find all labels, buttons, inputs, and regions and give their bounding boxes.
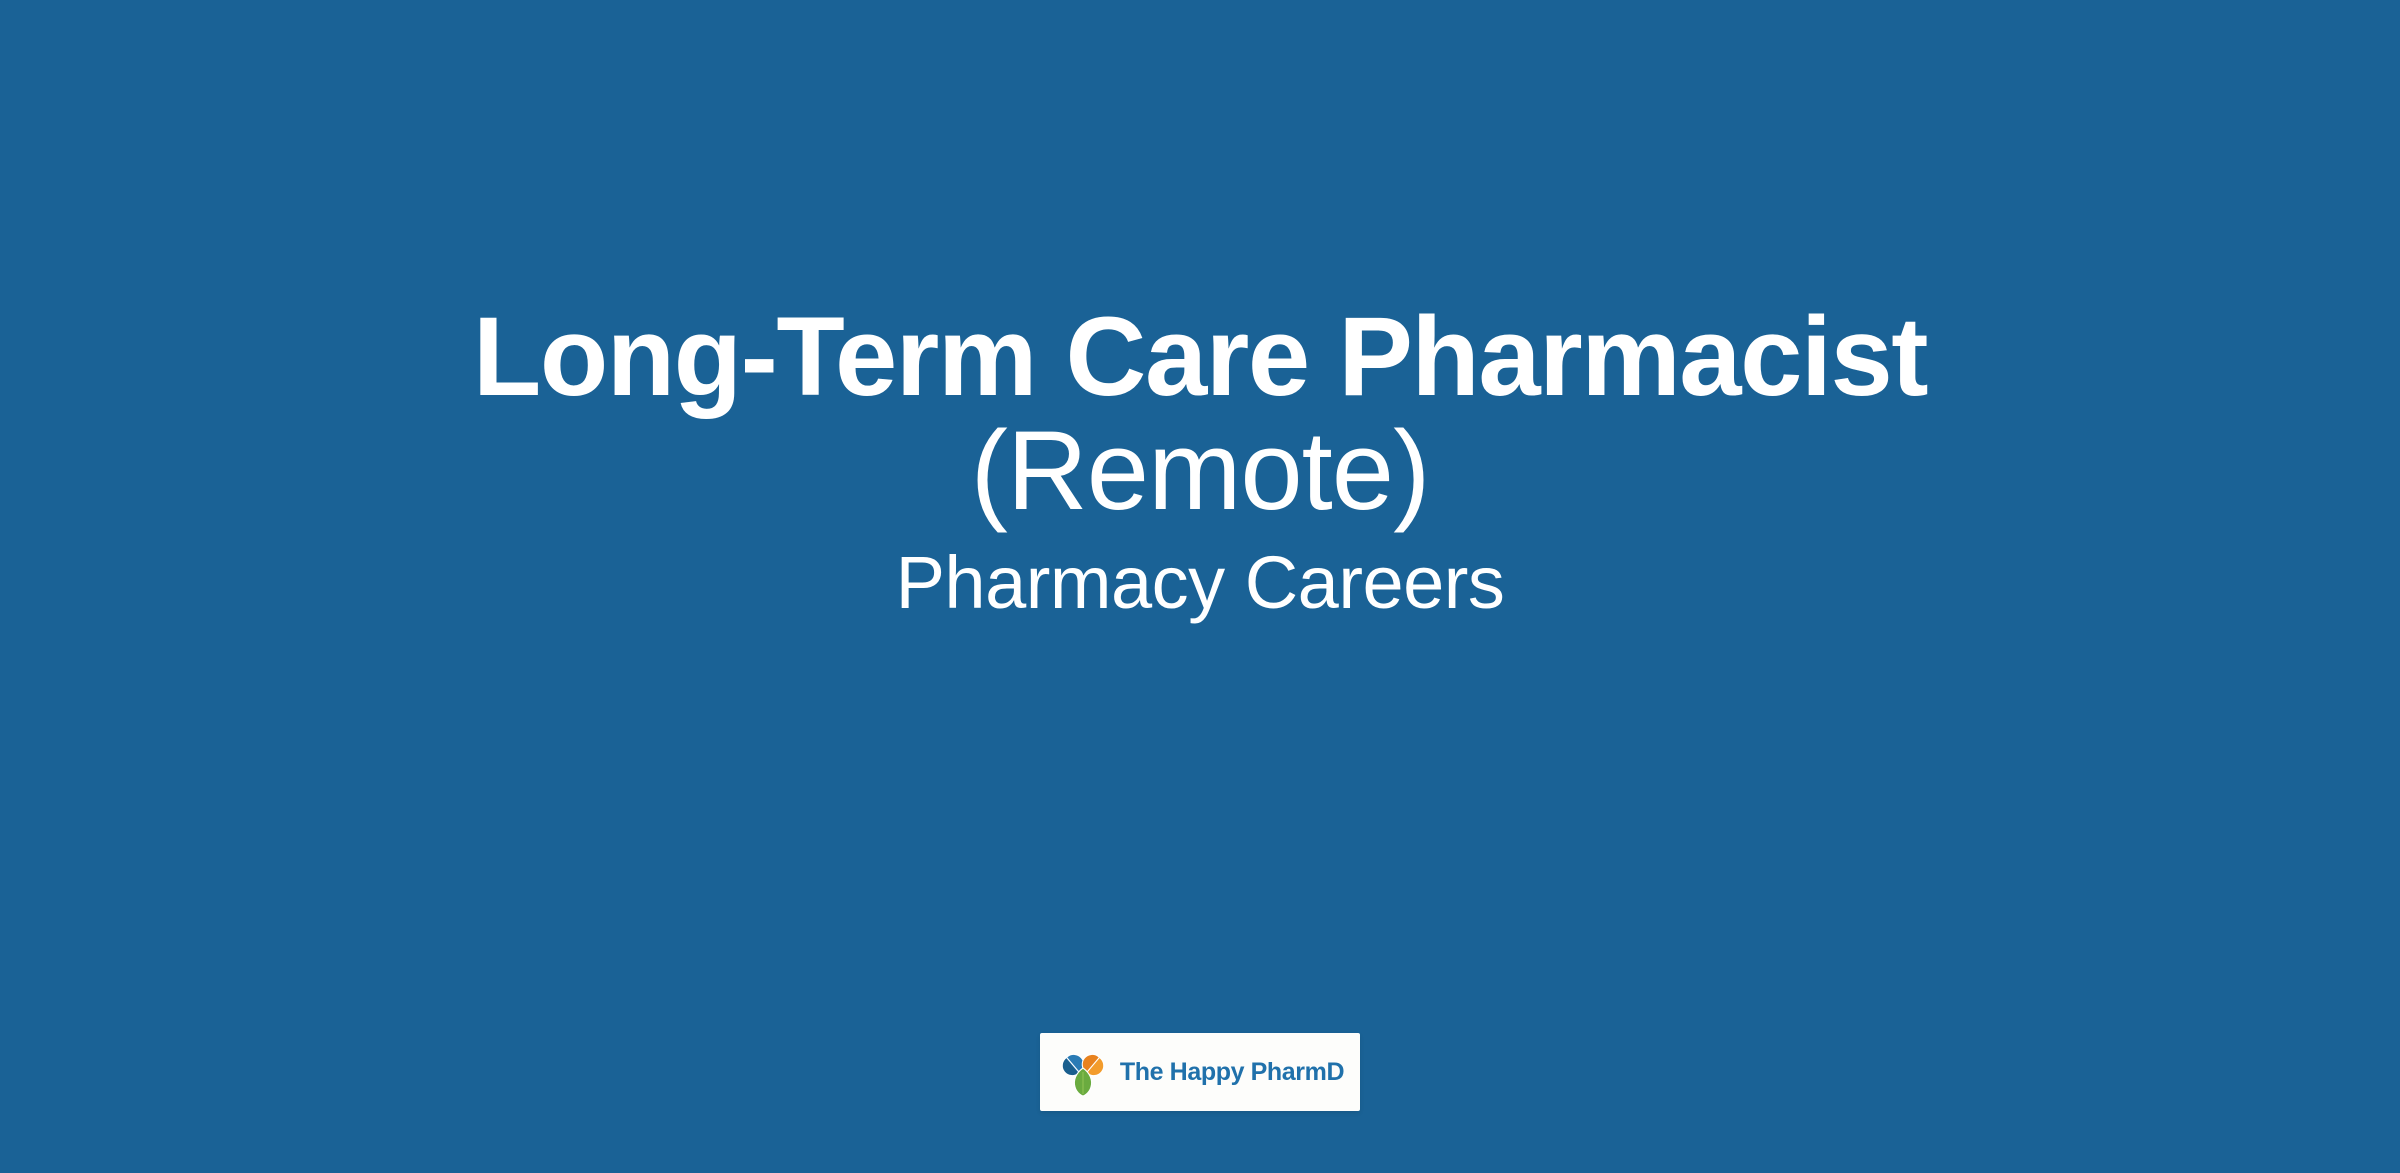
brand-logo-card: The Happy PharmD	[1040, 1033, 1360, 1111]
page-title-line-2: (Remote)	[390, 414, 2010, 528]
page-title: Long-Term Care Pharmacist (Remote)	[390, 300, 2010, 528]
page-title-line-1: Long-Term Care Pharmacist	[473, 294, 1927, 419]
slide-canvas: Long-Term Care Pharmacist (Remote) Pharm…	[0, 0, 2400, 1173]
title-block: Long-Term Care Pharmacist (Remote) Pharm…	[0, 300, 2400, 624]
page-subtitle: Pharmacy Careers	[180, 542, 2220, 623]
happy-pharmd-capsule-leaf-icon	[1056, 1047, 1110, 1097]
brand-wordmark: The Happy PharmD	[1120, 1060, 1344, 1085]
